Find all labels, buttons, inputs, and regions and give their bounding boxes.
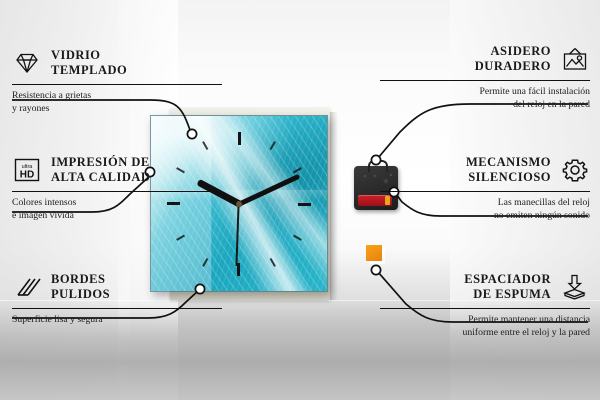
feature-rule	[12, 84, 222, 85]
feature-vidrio-templado: VIDRIO TEMPLADO Resistencia a grietas y …	[12, 48, 222, 115]
feature-espaciador-de-espuma: ESPACIADOR DE ESPUMA Permite mantener un…	[380, 272, 590, 339]
feature-description: Permite una fácil instalación del reloj …	[380, 85, 590, 111]
feature-title: ESPACIADOR DE ESPUMA	[464, 272, 551, 303]
feature-rule	[380, 80, 590, 81]
feature-description: Las manecillas del reloj no emiten ningú…	[380, 196, 590, 222]
picture-hanger-icon	[560, 46, 590, 72]
foam-spacer-sample	[366, 245, 382, 261]
diamond-icon	[12, 50, 42, 76]
feature-impresion-alta-calidad: ultra HD IMPRESIÓN DE ALTA CALIDAD Color…	[12, 155, 222, 222]
clock-center-cap	[236, 201, 242, 207]
feature-title: ASIDERO DURADERO	[475, 44, 551, 75]
clock-tick	[238, 132, 240, 204]
feature-description: Resistencia a grietas y rayones	[12, 89, 222, 115]
feature-rule	[12, 308, 222, 309]
feature-bordes-pulidos: BORDES PULIDOS Superficie lisa y segura	[12, 272, 222, 326]
product-infographic: VIDRIO TEMPLADO Resistencia a grietas y …	[0, 0, 600, 400]
feature-title: VIDRIO TEMPLADO	[51, 48, 127, 79]
ultra-hd-icon: ultra HD	[12, 157, 42, 183]
feature-title: IMPRESIÓN DE ALTA CALIDAD	[51, 155, 150, 186]
feature-title: BORDES PULIDOS	[51, 272, 110, 303]
feature-description: Permite mantener una distancia uniforme …	[380, 313, 590, 339]
feature-rule	[380, 191, 590, 192]
feature-title: MECANISMO SILENCIOSO	[466, 155, 551, 186]
clock-tick	[239, 203, 311, 205]
polished-edges-icon	[12, 274, 42, 300]
feature-mecanismo-silencioso: MECANISMO SILENCIOSO Las manecillas del …	[380, 155, 590, 222]
feature-asidero-duradero: ASIDERO DURADERO Permite una fácil insta…	[380, 44, 590, 111]
feature-rule	[12, 191, 222, 192]
foam-spacer-icon	[560, 274, 590, 300]
gear-icon	[560, 157, 590, 183]
svg-text:HD: HD	[20, 170, 34, 181]
feature-description: Superficie lisa y segura	[12, 313, 222, 326]
feature-rule	[380, 308, 590, 309]
feature-description: Colores intensos e imagen vívida	[12, 196, 222, 222]
